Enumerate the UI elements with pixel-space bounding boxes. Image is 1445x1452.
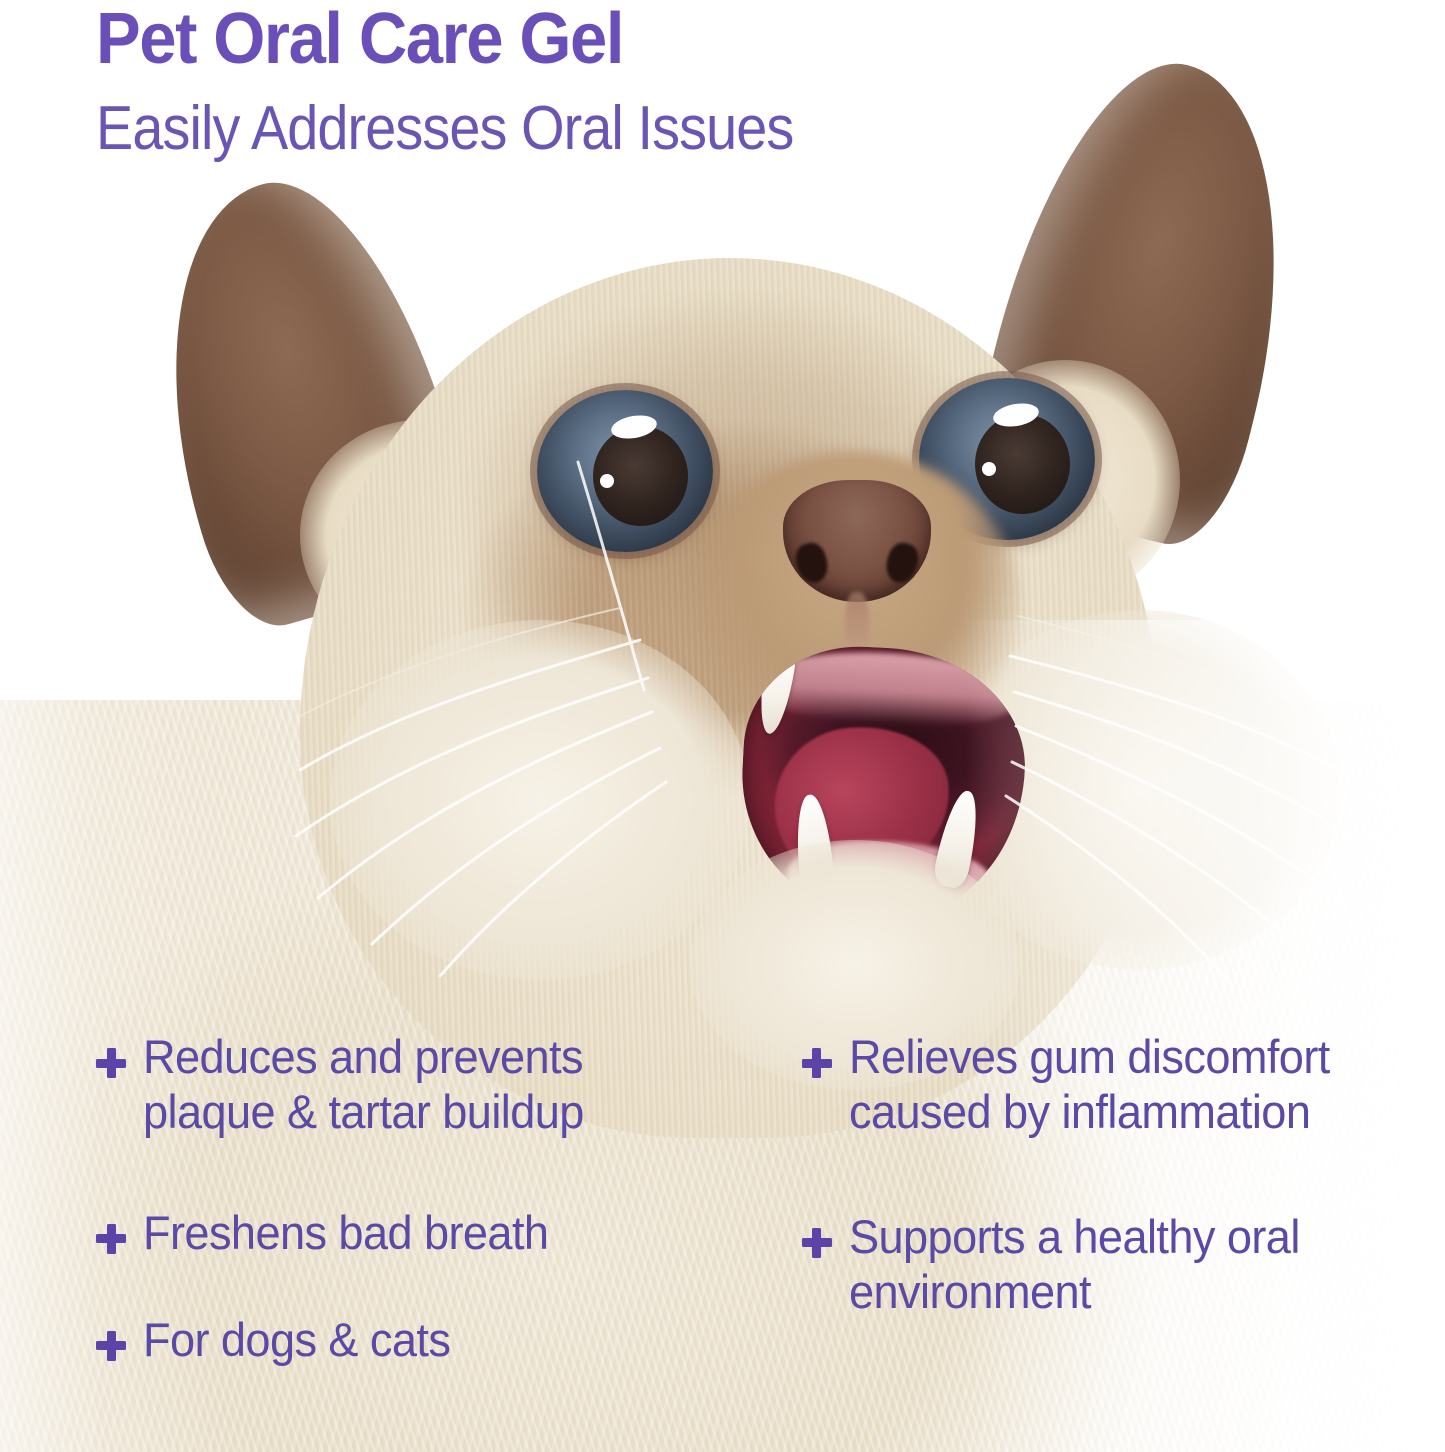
plus-icon [96, 1224, 126, 1254]
benefit-item: For dogs & cats [96, 1313, 740, 1368]
product-infographic: Pet Oral Care Gel Easily Addresses Oral … [0, 0, 1445, 1452]
benefit-item: Relieves gum discomfort caused by inflam… [802, 1030, 1445, 1140]
benefit-text: Relieves gum discomfort caused by inflam… [849, 1030, 1422, 1140]
benefit-text: Supports a healthy oral environment [849, 1210, 1422, 1320]
plus-icon [802, 1228, 832, 1258]
benefit-text: For dogs & cats [143, 1313, 450, 1368]
plus-icon [96, 1331, 126, 1361]
page-subtitle: Easily Addresses Oral Issues [96, 96, 793, 163]
plus-icon [802, 1048, 832, 1078]
benefits-left-column: Reduces and prevents plaque & tartar bui… [0, 1030, 740, 1368]
benefit-item: Supports a healthy oral environment [802, 1210, 1445, 1320]
page-title: Pet Oral Care Gel [96, 2, 623, 77]
benefit-item: Reduces and prevents plaque & tartar bui… [96, 1030, 740, 1140]
benefits-right-column: Relieves gum discomfort caused by inflam… [740, 1030, 1445, 1368]
plus-icon [96, 1048, 126, 1078]
benefit-item: Freshens bad breath [96, 1206, 740, 1261]
benefits-section: Reduces and prevents plaque & tartar bui… [0, 1030, 1445, 1368]
benefit-text: Freshens bad breath [143, 1206, 548, 1261]
benefit-text: Reduces and prevents plaque & tartar bui… [143, 1030, 716, 1140]
